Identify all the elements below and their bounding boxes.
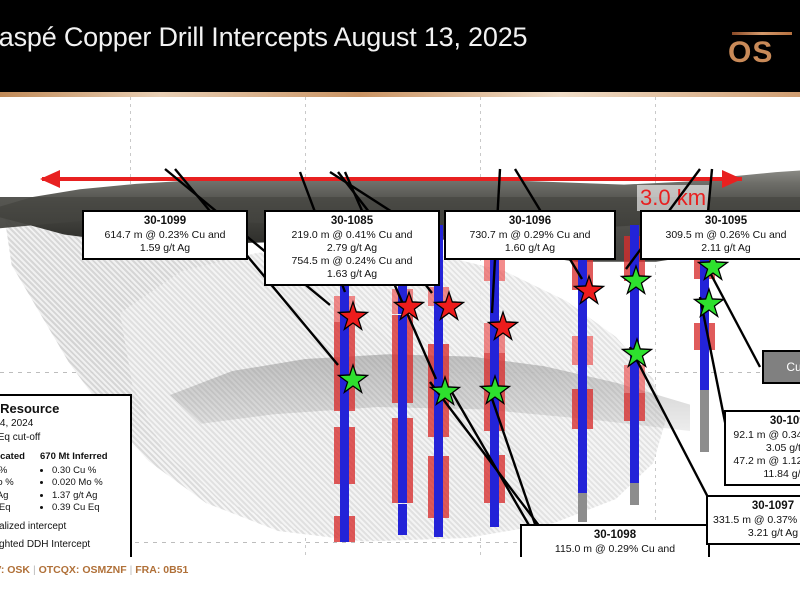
scale-arrow-head-right <box>722 170 742 188</box>
drill-interval <box>578 365 587 388</box>
callout-hole-id: 30-1098 <box>527 529 703 542</box>
legend-key-label: Mineralized intercept <box>0 520 66 534</box>
drill-interval <box>398 315 407 403</box>
callout-line: 1.60 g/t Ag <box>451 242 609 255</box>
resource-item: 0.39 Cu Eq <box>52 502 123 515</box>
logo-wordmark: OS <box>728 36 773 70</box>
drill-interval <box>340 516 349 542</box>
drill-interval <box>434 437 443 456</box>
resource-item: 0.36 Cu % <box>0 465 34 478</box>
grid-line-vertical <box>655 97 656 557</box>
cross-section-figure: 3.0 km Cu 30-1099 614.7 m @ 0.23% <box>0 97 800 557</box>
resource-item: 0.45 Cu Eq <box>0 502 34 515</box>
drill-interval <box>340 484 349 515</box>
resource-column-indicated: 165 Mt Indicated 0.36 Cu % 0.016 Mo % 1.… <box>0 450 34 515</box>
resource-columns: 165 Mt Indicated 0.36 Cu % 0.016 Mo % 1.… <box>0 450 123 515</box>
logo-accent-bar <box>732 32 792 35</box>
callout-30-1099[interactable]: 30-1099 614.7 m @ 0.23% Cu and 1.59 g/t … <box>82 210 248 260</box>
drill-interval <box>630 483 639 505</box>
drill-interval <box>340 322 349 411</box>
cu-tag-box: Cu <box>762 350 800 384</box>
drill-interval <box>340 411 349 427</box>
callout-hole-id: 30-1099 <box>89 215 241 228</box>
callout-line: 754.5 m @ 0.24% Cu and <box>271 255 433 268</box>
callout-30-1096[interactable]: 30-1096 730.7 m @ 0.29% Cu and 1.60 g/t … <box>444 210 616 260</box>
legend-key-mineralized: Mineralized intercept <box>0 520 123 534</box>
callout-line: 2.11 g/t Ag <box>647 242 800 255</box>
resource-item: 0.020 Mo % <box>52 477 123 490</box>
drill-interval <box>398 403 407 419</box>
callout-hole-id: 30-1094 <box>731 415 800 428</box>
callout-hole-id: 30-1095 <box>647 215 800 228</box>
legend-date: December 4, 2024 <box>0 417 123 431</box>
callout-line: 1.59 g/t Ag <box>89 242 241 255</box>
callout-line: 3.21 g/t Ag <box>713 527 800 540</box>
scale-arrow-head-left <box>40 170 60 188</box>
drill-hole-30-1097 <box>630 225 639 505</box>
drill-interval <box>490 257 499 281</box>
page-title: Gaspé Copper Drill Intercepts August 13,… <box>0 22 618 53</box>
ticker-fra: FRA: 0B51 <box>135 564 188 576</box>
drill-interval <box>630 225 639 236</box>
resource-column-heading: 670 Mt Inferred <box>40 450 123 464</box>
resource-column-inferred: 670 Mt Inferred 0.30 Cu % 0.020 Mo % 1.3… <box>40 450 123 515</box>
resource-item-list: 0.30 Cu % 0.020 Mo % 1.37 g/t Ag 0.39 Cu… <box>40 465 123 515</box>
star-icon <box>692 287 726 321</box>
callout-30-1094[interactable]: 30-1094 92.1 m @ 0.34% Cu and 3.05 g/t A… <box>724 410 800 486</box>
callout-30-1085[interactable]: 30-1085 219.0 m @ 0.41% Cu and 2.79 g/t … <box>264 210 440 286</box>
callout-line: 11.84 g/t Ag <box>731 468 800 481</box>
resource-item: 0.016 Mo % <box>0 477 34 490</box>
callout-30-1097[interactable]: 30-1097 331.5 m @ 0.37% Cu and 3.21 g/t … <box>706 495 800 545</box>
callout-line: 47.2 m @ 1.12% Cu and <box>731 455 800 468</box>
callout-hole-id: 30-1096 <box>451 215 609 228</box>
ticker-separator: | <box>130 564 133 576</box>
drill-interval <box>490 503 499 527</box>
drill-interval <box>630 421 639 483</box>
drill-interval <box>340 427 349 485</box>
resource-item: 1.66 g/t Ag <box>0 490 34 503</box>
callout-line: 614.7 m @ 0.23% Cu and <box>89 229 241 242</box>
drill-interval <box>490 281 499 323</box>
drill-interval <box>434 518 443 537</box>
ticker-otcqx: OTCQX: OSMZNF <box>39 564 127 576</box>
callout-hole-id: 30-1085 <box>271 215 433 228</box>
callout-line: 3.05 g/t Ag <box>731 442 800 455</box>
callout-line: 115.0 m @ 0.29% Cu and <box>527 543 703 556</box>
callout-line: 309.5 m @ 0.26% Cu and <box>647 229 800 242</box>
drill-interval <box>578 429 587 493</box>
drill-interval <box>490 431 499 455</box>
drill-interval <box>630 365 639 393</box>
resource-item: 0.30 Cu % <box>52 465 123 478</box>
drill-interval <box>398 504 407 536</box>
resource-column-heading: 165 Mt Indicated <box>0 450 34 464</box>
drill-interval <box>578 336 587 365</box>
resource-item: 1.37 g/t Ag <box>52 490 123 503</box>
drill-interval <box>700 390 709 430</box>
drill-hole-30-1095 <box>578 232 587 522</box>
callout-line: 730.7 m @ 0.29% Cu and <box>451 229 609 242</box>
mineral-resource-legend: Mineral Resource December 4, 2024 0.12% … <box>0 394 132 557</box>
legend-cutoff: 0.12% Cu Eq cut-off <box>0 431 123 445</box>
callout-line: 219.0 m @ 0.41% Cu and <box>271 229 433 242</box>
page-header: Gaspé Copper Drill Intercepts August 13,… <box>0 0 800 92</box>
drill-interval <box>434 456 443 518</box>
drill-interval <box>700 350 709 390</box>
drill-interval <box>700 430 709 452</box>
legend-key-highlighted: Highlighted DDH Intercept <box>0 538 123 552</box>
drill-interval <box>398 418 407 503</box>
exchange-ticker-line: TSXV: OSK | OTCQX: OSMZNF | FRA: 0B51 <box>0 564 188 576</box>
page-footer: TSXV: OSK | OTCQX: OSMZNF | FRA: 0B51 <box>0 557 800 600</box>
osisko-logo: OS <box>726 30 796 76</box>
scale-arrow-label: 3.0 km <box>637 185 709 211</box>
callout-line: 331.5 m @ 0.37% Cu and <box>713 514 800 527</box>
drill-interval <box>434 306 443 343</box>
drill-interval <box>630 393 639 421</box>
ticker-separator: | <box>33 564 36 576</box>
callout-line: 1.63 g/t Ag <box>271 268 433 281</box>
resource-item-list: 0.36 Cu % 0.016 Mo % 1.66 g/t Ag 0.45 Cu… <box>0 465 34 515</box>
legend-title: Mineral Resource <box>0 401 123 417</box>
callout-30-1098[interactable]: 30-1098 115.0 m @ 0.29% Cu and 2.18 g/t … <box>520 524 710 557</box>
legend-key-label: Highlighted DDH Intercept <box>0 538 90 552</box>
drill-interval <box>700 323 709 350</box>
scale-arrow-line <box>42 177 742 181</box>
drill-interval <box>578 389 587 430</box>
callout-30-1095[interactable]: 30-1095 309.5 m @ 0.26% Cu and 2.11 g/t … <box>640 210 800 260</box>
callout-line: 92.1 m @ 0.34% Cu and <box>731 429 800 442</box>
callout-hole-id: 30-1097 <box>713 500 800 513</box>
ticker-tsxv: TSXV: OSK <box>0 564 30 576</box>
callout-line: 2.79 g/t Ag <box>271 242 433 255</box>
drill-interval <box>578 493 587 522</box>
drill-interval <box>490 455 499 503</box>
